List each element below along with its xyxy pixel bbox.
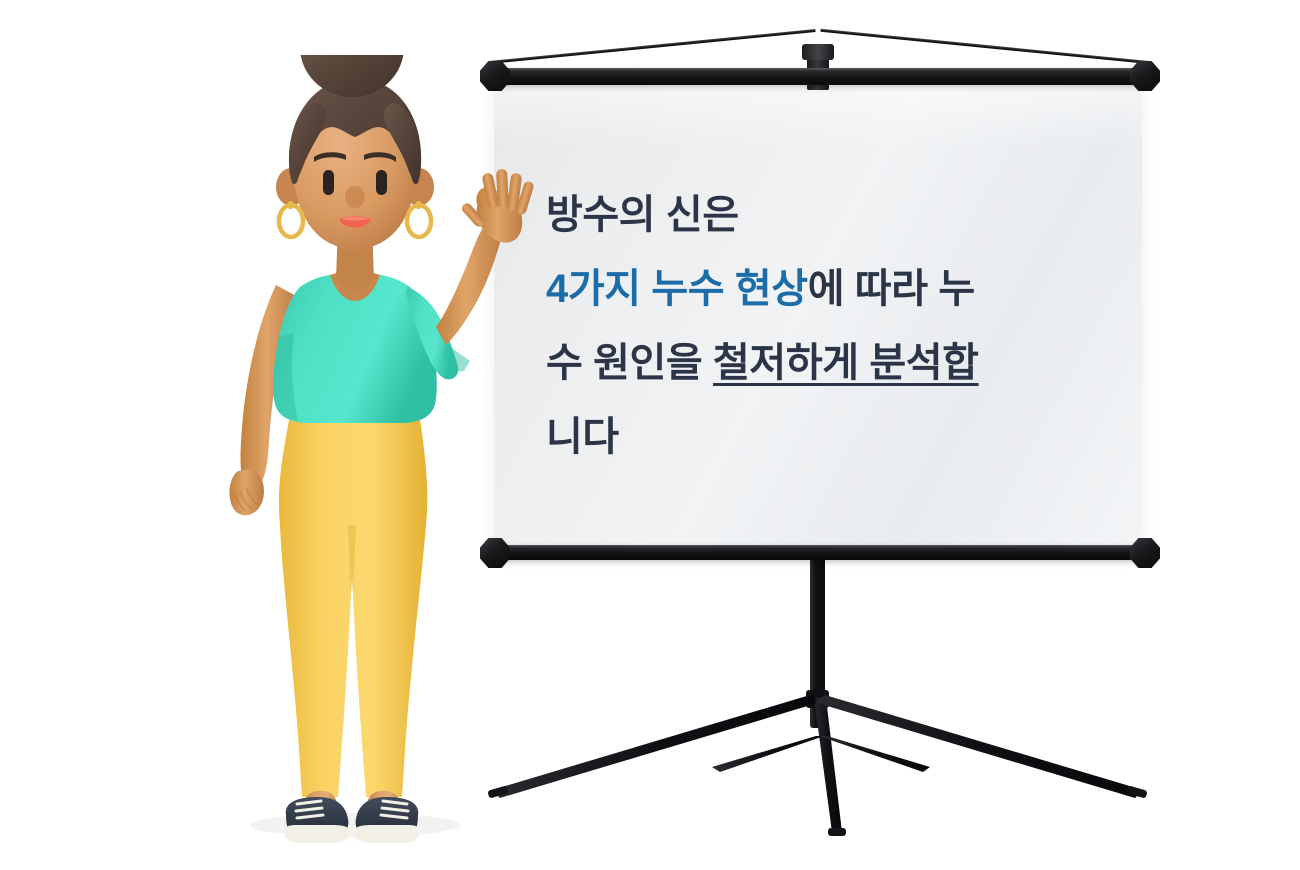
slide-line-1: 방수의 신은 (546, 178, 1091, 252)
character-earring-post-left (288, 201, 293, 209)
projector-screen-assembly: 방수의 신은 4가지 누수 현상에 따라 누 수 원인을 철저하게 분석합 니다 (480, 40, 1160, 840)
presenter-illustration (180, 55, 540, 845)
character-eye-right (376, 170, 387, 195)
tripod-leg-left (492, 695, 821, 798)
slide-line-3-underlined: 철저하게 분석합 (713, 341, 979, 385)
character-shoe-left (284, 797, 350, 843)
screen-hanging-cord-right (820, 29, 1149, 64)
character-nose (345, 186, 365, 208)
presenter-character (180, 55, 540, 845)
character-hand-right (460, 169, 535, 243)
screen-cap-bottom-right (1130, 538, 1160, 568)
slide-line-3-plain: 수 원인을 (546, 341, 713, 385)
character-shoe-right (354, 797, 420, 843)
tripod-stand (480, 540, 1160, 870)
screen-cap-top-right (1130, 61, 1160, 91)
tripod-leg-rear (814, 698, 842, 832)
slide-line-2-highlight: 4가지 누수 현상 (546, 267, 808, 311)
character-hand-left (229, 469, 264, 515)
tripod-brace-right (819, 736, 930, 772)
character-pants (279, 405, 427, 797)
slide-line-3: 수 원인을 철저하게 분석합 (546, 326, 1091, 400)
character-earring-right (407, 205, 431, 237)
slide-line-2-rest: 에 따라 누 (808, 267, 975, 311)
slide-line-4: 니다 (546, 400, 1091, 474)
tripod-leg-right (814, 695, 1143, 798)
screen-top-roller-bar (486, 68, 1149, 85)
slide-line-2: 4가지 누수 현상에 따라 누 (546, 252, 1091, 326)
character-earring-left (279, 205, 303, 237)
character-eye-left (323, 170, 334, 195)
screen-bottom-roller-bar (486, 545, 1149, 560)
tripod-brace-left (712, 736, 824, 772)
character-earring-post-right (416, 201, 421, 209)
tripod-foot-right (1126, 785, 1147, 798)
slide-line-4-text: 니다 (546, 415, 619, 459)
slide-text-block: 방수의 신은 4가지 누수 현상에 따라 누 수 원인을 철저하게 분석합 니다 (546, 178, 1091, 474)
scene-canvas: 방수의 신은 4가지 누수 현상에 따라 누 수 원인을 철저하게 분석합 니다 (0, 0, 1300, 870)
slide-line-1-text: 방수의 신은 (546, 193, 739, 237)
tripod-foot-rear (828, 828, 846, 836)
